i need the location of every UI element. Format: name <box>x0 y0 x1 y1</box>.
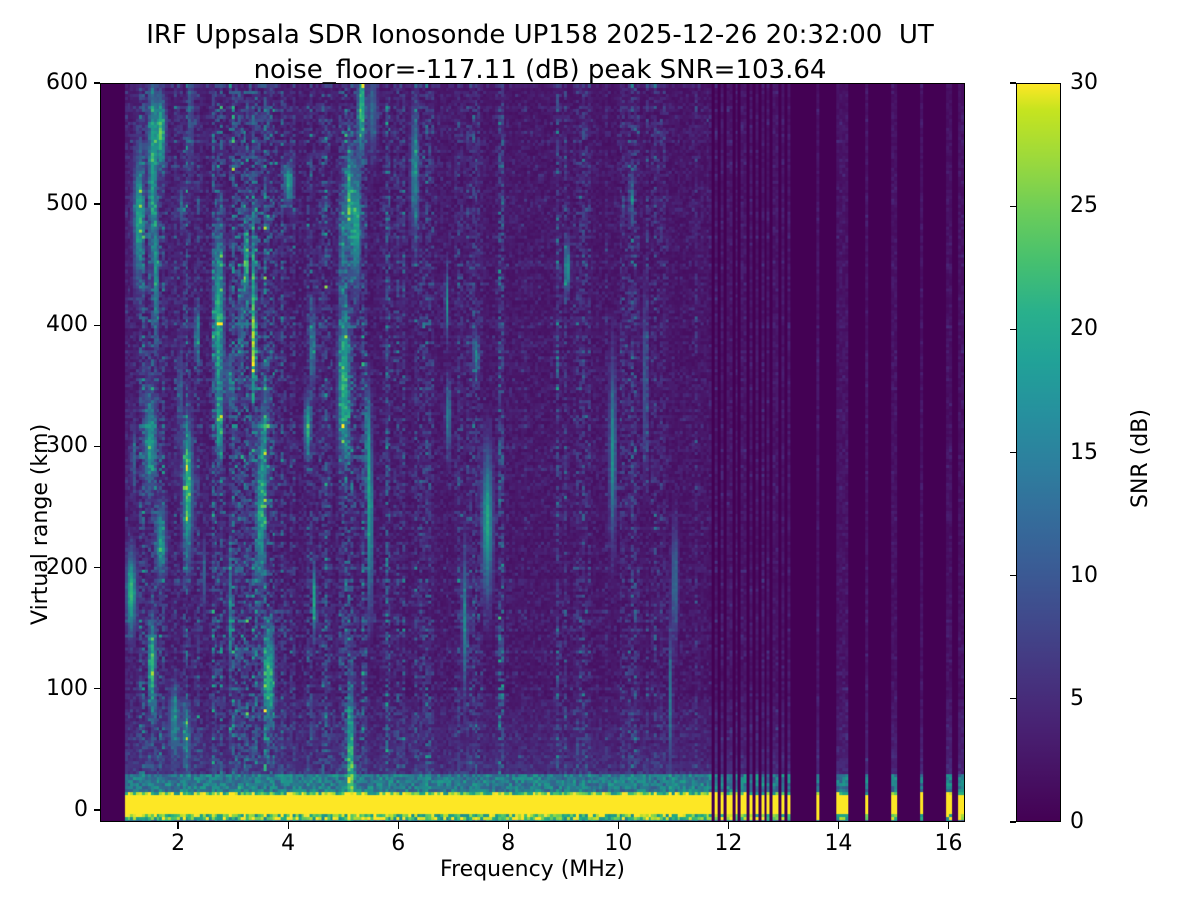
y-tick-mark <box>94 809 101 810</box>
colorbar-tick-mark <box>1010 82 1017 83</box>
y-tick-mark <box>94 446 101 447</box>
x-tick-mark <box>948 822 949 829</box>
x-tick-label: 10 <box>604 832 632 856</box>
colorbar-label: SNR (dB) <box>1128 409 1153 508</box>
x-tick-mark <box>177 822 178 829</box>
y-tick-label: 400 <box>46 314 88 336</box>
colorbar-tick-mark <box>1010 452 1017 453</box>
y-tick-label: 100 <box>46 678 88 700</box>
colorbar-tick-label: 20 <box>1070 318 1098 340</box>
x-tick-label: 2 <box>171 832 185 856</box>
y-tick-mark <box>94 203 101 204</box>
y-tick-label: 500 <box>46 193 88 215</box>
y-axis-label: Virtual range (km) <box>28 424 53 625</box>
colorbar-tick-label: 15 <box>1070 442 1098 464</box>
ionogram-figure: IRF Uppsala SDR Ionosonde UP158 2025-12-… <box>0 0 1200 900</box>
ionogram-axes <box>100 83 965 822</box>
y-tick-mark <box>94 325 101 326</box>
x-tick-label: 8 <box>501 832 515 856</box>
colorbar-tick-mark <box>1010 329 1017 330</box>
chart-title-line-1: IRF Uppsala SDR Ionosonde UP158 2025-12-… <box>0 18 1080 53</box>
colorbar-tick-label: 0 <box>1070 811 1084 833</box>
y-tick-label: 600 <box>46 72 88 94</box>
x-tick-mark <box>728 822 729 829</box>
x-tick-mark <box>508 822 509 829</box>
x-tick-label: 6 <box>391 832 405 856</box>
x-tick-mark <box>398 822 399 829</box>
y-tick-mark <box>94 567 101 568</box>
ionogram-heatmap-image <box>101 84 964 821</box>
x-axis-label: Frequency (MHz) <box>100 857 965 882</box>
x-tick-mark <box>618 822 619 829</box>
colorbar-tick-mark <box>1010 821 1017 822</box>
colorbar-tick-label: 30 <box>1070 72 1098 94</box>
x-tick-label: 14 <box>824 832 852 856</box>
y-tick-mark <box>94 82 101 83</box>
chart-title: IRF Uppsala SDR Ionosonde UP158 2025-12-… <box>0 18 1080 88</box>
x-tick-label: 16 <box>934 832 962 856</box>
y-tick-mark <box>94 688 101 689</box>
colorbar-tick-mark <box>1010 575 1017 576</box>
colorbar-tick-mark <box>1010 698 1017 699</box>
colorbar-tick-mark <box>1010 206 1017 207</box>
x-tick-label: 4 <box>281 832 295 856</box>
colorbar-tick-label: 5 <box>1070 688 1084 710</box>
colorbar <box>1016 83 1061 822</box>
x-tick-label: 12 <box>714 832 742 856</box>
x-tick-mark <box>838 822 839 829</box>
x-tick-mark <box>288 822 289 829</box>
colorbar-tick-label: 25 <box>1070 195 1098 217</box>
colorbar-tick-label: 10 <box>1070 565 1098 587</box>
y-tick-label: 0 <box>74 799 88 821</box>
